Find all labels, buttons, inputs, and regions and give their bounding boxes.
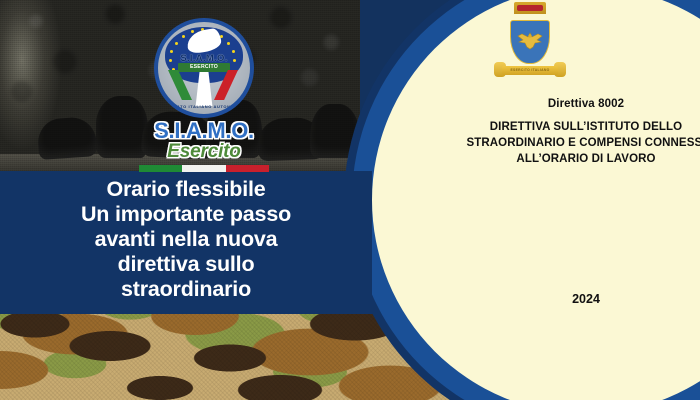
esercito-coat-of-arms-icon: ESERCITO ITALIANO [494, 0, 566, 82]
emblem-motto: ESERCITO ITALIANO [504, 68, 556, 73]
ribbon-green [168, 70, 192, 100]
flag-stripe-green [139, 165, 182, 172]
page-title: Orario flessibile Un importante passo av… [26, 177, 346, 302]
italian-flag-bar [139, 165, 269, 172]
poster-canvas: ESERCITO ITALIANO Direttiva 8002 DIRETTI… [0, 0, 700, 400]
ribbon-white [190, 72, 218, 106]
directive-text-block: Direttiva 8002 DIRETTIVA SULL’ISTITUTO D… [382, 98, 700, 167]
directive-year: 2024 [382, 292, 700, 306]
directive-number: Direttiva 8002 [382, 98, 700, 110]
directive-title: DIRETTIVA SULL’ISTITUTO DELLO STRAORDINA… [382, 119, 700, 167]
motto-scroll-icon: ESERCITO ITALIANO [494, 62, 566, 80]
flag-stripe-white [182, 165, 225, 172]
badge-sub-banner: ESERCITO [178, 63, 230, 72]
siamo-subtitle: Esercito [133, 141, 275, 163]
eagle-icon [514, 30, 546, 50]
siamo-logo: S.I.A.M.O. ESERCITO SINDACATO ITALIANO A… [133, 18, 275, 176]
crown-icon [514, 2, 546, 14]
badge-arc-text: SINDACATO ITALIANO AUTONOMO MILITARI ESE… [158, 104, 250, 109]
ribbon-red [214, 70, 238, 100]
siamo-badge-icon: S.I.A.M.O. ESERCITO SINDACATO ITALIANO A… [154, 18, 254, 118]
badge-inner: S.I.A.M.O. ESERCITO SINDACATO ITALIANO A… [158, 22, 250, 114]
flag-stripe-red [226, 165, 269, 172]
headline-band: Orario flessibile Un importante passo av… [0, 171, 372, 314]
directive-panel: ESERCITO ITALIANO Direttiva 8002 DIRETTI… [372, 0, 700, 400]
